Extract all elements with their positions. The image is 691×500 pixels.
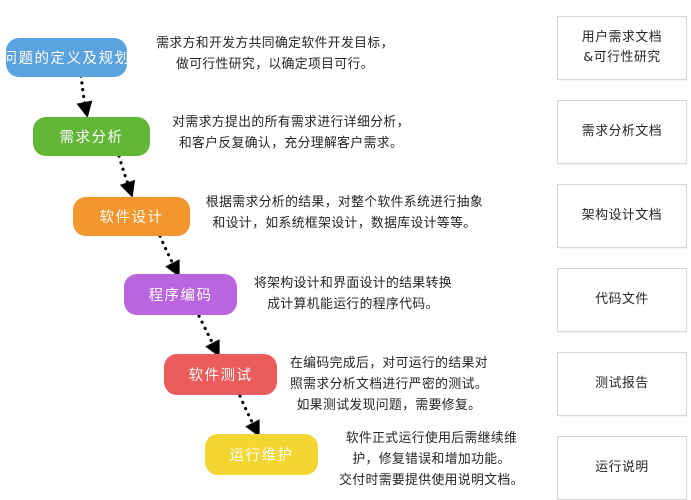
stage-pill-5[interactable]: 软件测试 xyxy=(164,354,277,395)
desc-line: 和设计，如系统框架设计，数据库设计等等。 xyxy=(192,213,497,234)
desc-line: 需求方和开发方共同确定软件开发目标， xyxy=(140,33,410,54)
document-line: 测试报告 xyxy=(595,374,649,394)
desc-line: 护，修复错误和增加功能。 xyxy=(325,449,538,470)
document-line: 用户需求文档 xyxy=(582,28,662,48)
connector-arrow-4 xyxy=(199,316,216,350)
stage-pill-6[interactable]: 运行维护 xyxy=(205,434,318,475)
stage-description-2: 对需求方提出的所有需求进行详细分析， 和客户反复确认，充分理解客户需求。 xyxy=(155,112,427,154)
desc-line: 做可行性研究，以确定项目可行。 xyxy=(140,54,410,75)
stage-description-6: 软件正式运行使用后需继续维 护，修复错误和增加功能。 交付时需要提供使用说明文档… xyxy=(325,428,538,491)
desc-line: 根据需求分析的结果，对整个软件系统进行抽象 xyxy=(192,192,497,213)
desc-line: 如果测试发现问题，需要修复。 xyxy=(277,395,501,416)
document-line: 代码文件 xyxy=(595,290,649,310)
document-box-4[interactable]: 代码文件 xyxy=(557,268,687,332)
stage-description-4: 将架构设计和界面设计的结果转换 成计算机能运行的程序代码。 xyxy=(244,273,462,315)
document-box-6[interactable]: 运行说明 xyxy=(557,436,687,500)
document-box-3[interactable]: 架构设计文档 xyxy=(557,184,687,248)
stage-pill-3[interactable]: 软件设计 xyxy=(73,197,190,236)
desc-line: 将架构设计和界面设计的结果转换 xyxy=(244,273,462,294)
stage-description-3: 根据需求分析的结果，对整个软件系统进行抽象 和设计，如系统框架设计，数据库设计等… xyxy=(192,192,497,234)
desc-line: 照需求分析文档进行严密的测试。 xyxy=(277,374,501,395)
stage-description-5: 在编码完成后，对可运行的结果对 照需求分析文档进行严密的测试。 如果测试发现问题… xyxy=(277,353,501,416)
stage-description-1: 需求方和开发方共同确定软件开发目标， 做可行性研究，以确定项目可行。 xyxy=(140,33,410,75)
stage-pill-2[interactable]: 需求分析 xyxy=(33,117,150,156)
stage-pill-4[interactable]: 程序编码 xyxy=(124,274,237,315)
desc-line: 和客户反复确认，充分理解客户需求。 xyxy=(155,133,427,154)
document-box-5[interactable]: 测试报告 xyxy=(557,352,687,416)
document-box-2[interactable]: 需求分析文档 xyxy=(557,100,687,164)
connector-arrow-2 xyxy=(119,156,130,190)
document-line: 需求分析文档 xyxy=(582,122,662,142)
desc-line: 成计算机能运行的程序代码。 xyxy=(244,294,462,315)
stage-label-5: 软件测试 xyxy=(189,364,253,385)
desc-line: 软件正式运行使用后需继续维 xyxy=(325,428,538,449)
connector-arrow-5 xyxy=(240,396,256,430)
document-line: &可行性研究 xyxy=(583,48,661,68)
stage-pill-1[interactable]: 问题的定义及规划 xyxy=(6,38,127,77)
connector-arrow-1 xyxy=(81,76,86,110)
document-line: 运行说明 xyxy=(595,458,649,478)
document-box-1[interactable]: 用户需求文档 &可行性研究 xyxy=(557,16,687,80)
desc-line: 在编码完成后，对可运行的结果对 xyxy=(277,353,501,374)
desc-line: 交付时需要提供使用说明文档。 xyxy=(325,470,538,491)
stage-label-1: 问题的定义及规划 xyxy=(3,47,131,68)
flowchart-diagram: 问题的定义及规划 需求方和开发方共同确定软件开发目标， 做可行性研究，以确定项目… xyxy=(0,0,691,500)
document-line: 架构设计文档 xyxy=(582,206,662,226)
stage-label-2: 需求分析 xyxy=(60,126,124,147)
desc-line: 对需求方提出的所有需求进行详细分析， xyxy=(155,112,427,133)
stage-label-4: 程序编码 xyxy=(149,284,213,305)
stage-label-3: 软件设计 xyxy=(100,206,164,227)
connector-arrow-3 xyxy=(160,236,176,270)
stage-label-6: 运行维护 xyxy=(230,444,294,465)
